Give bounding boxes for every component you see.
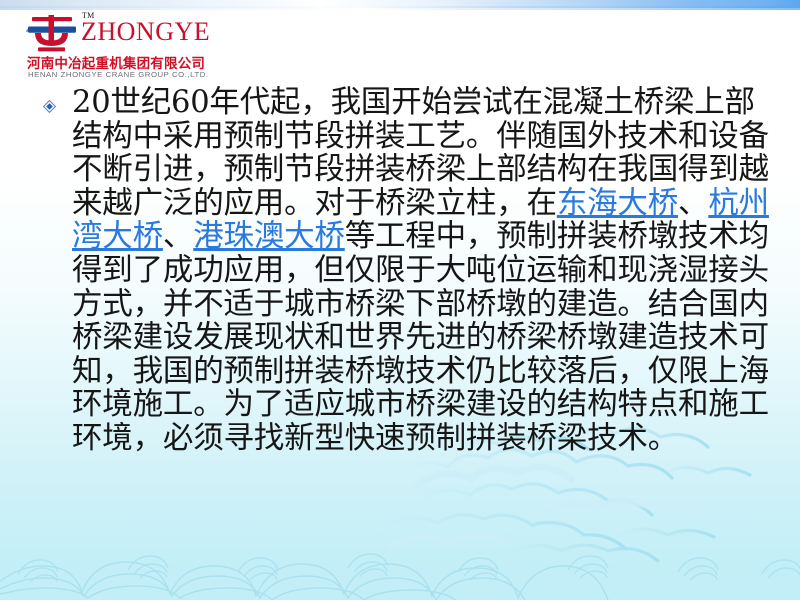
zhongye-logo-mark-icon bbox=[26, 14, 78, 54]
slide-content-block: 20世纪60年代起，我国开始尝试在混凝土桥梁上部结构中采用预制节段拼装工艺。伴随… bbox=[36, 86, 780, 456]
hyperlink-5[interactable]: 港珠澳大桥 bbox=[193, 219, 345, 254]
presentation-slide: TM ZHONGYE 河南中冶起重机集团有限公司 HENAN ZHONGYE C… bbox=[0, 0, 800, 600]
company-name-chinese: 河南中冶起重机集团有限公司 bbox=[27, 52, 205, 72]
chinese-wave-pattern-icon bbox=[0, 508, 800, 600]
company-logo: TM ZHONGYE 河南中冶起重机集团有限公司 HENAN ZHONGYE C… bbox=[26, 10, 241, 80]
diamond-bullet-icon bbox=[43, 100, 56, 113]
logo-wordmark: ZHONGYE bbox=[81, 19, 210, 45]
text-run: 、 bbox=[163, 219, 193, 254]
body-paragraph: 20世纪60年代起，我国开始尝试在混凝土桥梁上部结构中采用预制节段拼装工艺。伴随… bbox=[36, 86, 780, 456]
text-run: 等工程中，预制拼装桥墩技术均得到了成功应用，但仅限于大吨位运输和现浇湿接头方式，… bbox=[72, 219, 769, 456]
hyperlink-1[interactable]: 东海大桥 bbox=[557, 186, 678, 221]
company-name-english: HENAN ZHONGYE CRANE GROUP CO.,LTD. bbox=[28, 70, 209, 79]
text-run: 、 bbox=[678, 186, 708, 221]
